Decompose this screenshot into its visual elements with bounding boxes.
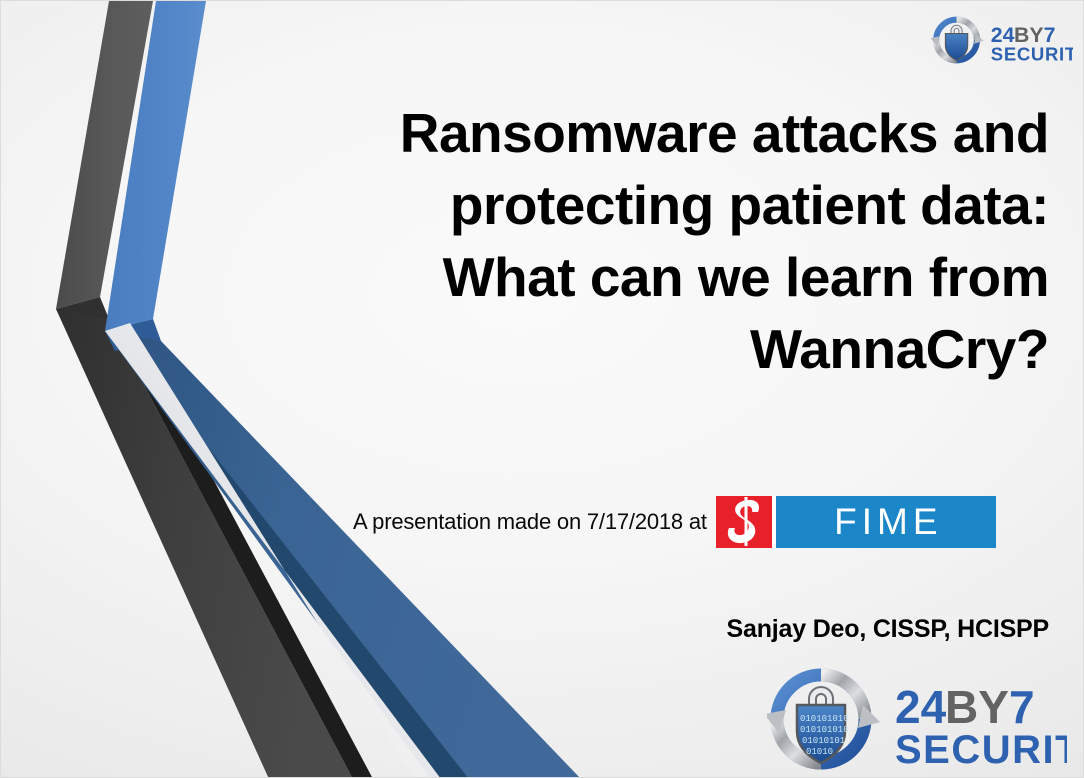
presentation-subtitle: A presentation made on 7/17/2018 at	[353, 509, 716, 535]
gray-ribbon-lower-edge	[109, 319, 373, 778]
brand-logo-bottom: 010101010 010101010 01010101 01010 24 BY…	[767, 665, 1067, 773]
fime-logo: FIME	[716, 496, 996, 548]
page-title: Ransomware attacks and protecting patien…	[301, 97, 1049, 385]
title-line-2: protecting patient data:	[301, 169, 1049, 241]
brand-7-text: 7	[1009, 681, 1035, 733]
brand-logo-top: 24 BY 7 SECURITY	[929, 15, 1073, 65]
fime-wordmark-text: FIME	[829, 501, 942, 543]
title-line-4: WannaCry?	[301, 313, 1049, 385]
padlock-shield-icon	[945, 25, 967, 60]
brand-24-text: 24	[895, 681, 947, 733]
blue-ribbon-lower	[105, 331, 581, 778]
author-line: Sanjay Deo, CISSP, HCISPP	[301, 615, 1049, 644]
title-line-1: Ransomware attacks and	[301, 97, 1049, 169]
binary-row-3: 01010	[806, 747, 833, 757]
gray-ribbon-fold	[56, 297, 109, 331]
binary-row-0: 010101010	[800, 714, 849, 724]
blue-ribbon-upper	[105, 1, 206, 331]
presentation-slide: Ransomware attacks and protecting patien…	[0, 0, 1084, 778]
fime-emblem-icon	[716, 496, 772, 548]
binary-row-1: 010101010	[800, 725, 849, 735]
brand-security-text: SECURITY	[991, 43, 1073, 64]
gray-ribbon-upper	[56, 1, 153, 309]
presentation-info-row: A presentation made on 7/17/2018 at FIME	[353, 494, 1043, 550]
brand-by-text: BY	[945, 681, 1009, 733]
blue-ribbon-lower-edge	[105, 331, 469, 778]
fime-wordmark: FIME	[776, 496, 996, 548]
brand-security-text: SECURITY	[895, 728, 1067, 772]
title-line-3: What can we learn from	[301, 241, 1049, 313]
blue-ribbon-fold	[105, 319, 161, 351]
binary-row-2: 01010101	[802, 736, 845, 746]
ribbon-separator	[105, 323, 441, 778]
